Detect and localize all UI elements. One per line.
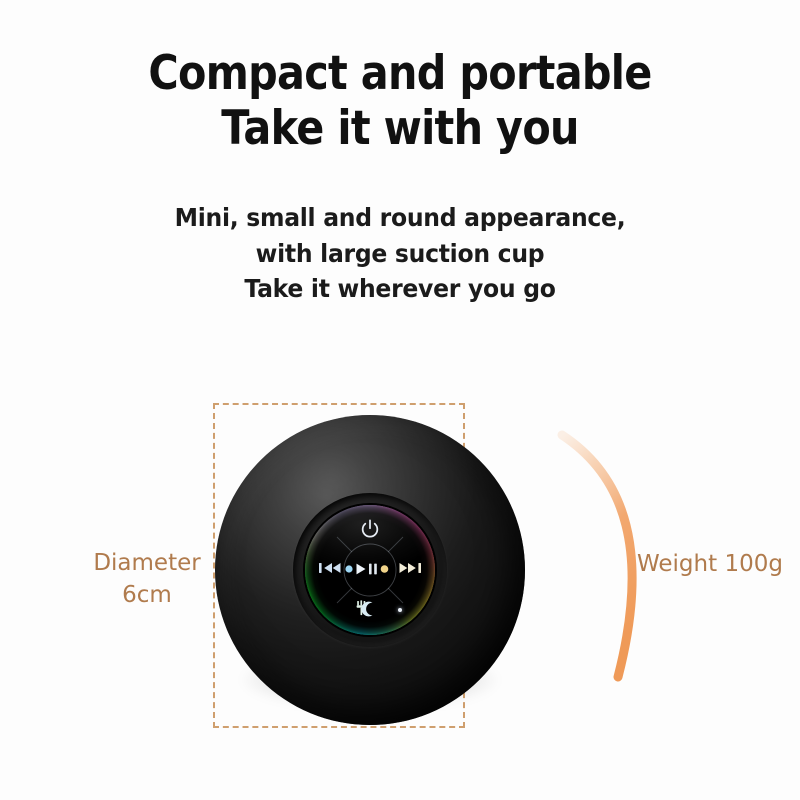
page-subtitle: Mini, small and round appearance, with l… bbox=[24, 200, 776, 307]
lamp-icon bbox=[353, 599, 387, 619]
next-track-icon bbox=[397, 559, 423, 577]
product-feature-page: Compact and portable Take it with you Mi… bbox=[0, 0, 800, 800]
weight-label: Weight 100g bbox=[637, 549, 783, 581]
power-icon bbox=[359, 518, 381, 540]
headline-line-1: Compact and portable bbox=[48, 46, 752, 101]
play-pause-button[interactable] bbox=[344, 559, 396, 579]
light-mode-button[interactable] bbox=[353, 599, 387, 619]
status-indicator-dot bbox=[398, 608, 402, 612]
diameter-value-text: 6cm bbox=[88, 580, 206, 612]
diameter-label: Diameter 6cm bbox=[88, 548, 206, 611]
next-track-button[interactable] bbox=[397, 559, 423, 577]
diameter-label-text: Diameter bbox=[88, 548, 206, 580]
previous-track-icon bbox=[317, 559, 343, 577]
play-pause-icon bbox=[344, 559, 396, 579]
power-button[interactable] bbox=[359, 518, 381, 540]
subtitle-line-3: Take it wherever you go bbox=[24, 271, 776, 307]
subtitle-line-1: Mini, small and round appearance, bbox=[24, 200, 776, 236]
page-title: Compact and portable Take it with you bbox=[48, 46, 752, 157]
control-panel[interactable] bbox=[303, 503, 437, 637]
subtitle-line-2: with large suction cup bbox=[24, 236, 776, 272]
previous-track-button[interactable] bbox=[317, 559, 343, 577]
weight-label-text: Weight 100g bbox=[637, 549, 783, 581]
bluetooth-speaker bbox=[215, 415, 525, 725]
headline-line-2: Take it with you bbox=[48, 101, 752, 156]
